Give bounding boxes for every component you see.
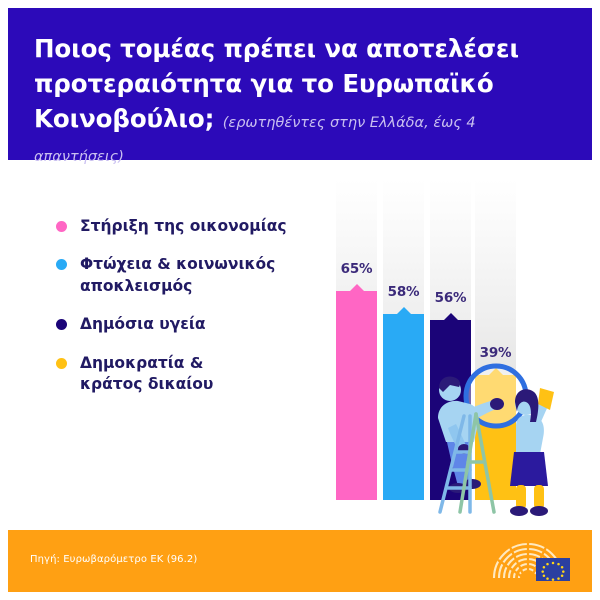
woman-leg-right xyxy=(534,485,544,509)
woman-arm-raised xyxy=(530,398,550,428)
legend-dot-blue-icon xyxy=(56,259,67,270)
source-text: Πηγή: Ευρωβαρόμετρο ΕΚ (96.2) xyxy=(30,554,197,565)
legend-dot-pink-icon xyxy=(56,221,67,232)
header-banner: Ποιος τομέας πρέπει να αποτελέσει προτερ… xyxy=(8,8,592,160)
legend-label-democracy: Δημοκρατία & κράτος δικαίου xyxy=(80,353,213,396)
bar-peak-icon xyxy=(350,284,364,291)
footer-bar: Πηγή: Ευρωβαρόμετρο ΕΚ (96.2) xyxy=(8,530,592,592)
legend-item-economy: Στήριξη της οικονομίας xyxy=(56,216,336,237)
title-line-2: προτεραιότητα για το Ευρωπαϊκό xyxy=(34,69,494,98)
bar-fill-economy xyxy=(336,291,377,500)
legend-dot-navy-icon xyxy=(56,319,67,330)
bar-peak-icon xyxy=(397,307,411,314)
bar-fill-public-health xyxy=(430,320,471,500)
bar-peak-icon xyxy=(489,368,503,375)
eu-flag-icon xyxy=(536,558,570,581)
bar-track-2: 58% xyxy=(383,179,424,500)
bar-value-economy: 65% xyxy=(336,261,377,277)
title-line-3: Κοινοβούλιο; xyxy=(34,104,214,133)
bar-value-poverty: 58% xyxy=(383,284,424,300)
title-line-1: Ποιος τομέας πρέπει να αποτελέσει xyxy=(34,34,519,63)
legend-label-public-health: Δημόσια υγεία xyxy=(80,314,206,335)
legend-label-poverty: Φτώχεια & κοινωνικός αποκλεισμός xyxy=(80,254,275,297)
legend-item-poverty: Φτώχεια & κοινωνικός αποκλεισμός xyxy=(56,254,336,297)
bar-track-3: 56% xyxy=(430,179,471,500)
woman-shoe-right xyxy=(530,506,548,516)
bar-peak-icon xyxy=(444,313,458,320)
legend-item-public-health: Δημόσια υγεία xyxy=(56,314,336,335)
legend: Στήριξη της οικονομίας Φτώχεια & κοινωνι… xyxy=(56,216,336,412)
bar-track-4: 39% xyxy=(475,179,516,500)
legend-dot-yellow-icon xyxy=(56,358,67,369)
page-title: Ποιος τομέας πρέπει να αποτελέσει προτερ… xyxy=(34,32,566,171)
legend-item-democracy: Δημοκρατία & κράτος δικαίου xyxy=(56,353,336,396)
legend-label-economy: Στήριξη της οικονομίας xyxy=(80,216,287,237)
bar-chart: 65% 58% 56% 39% xyxy=(336,176,526,500)
european-parliament-logo xyxy=(488,538,574,584)
woman-held-card-icon xyxy=(538,388,554,410)
bar-value-public-health: 56% xyxy=(430,290,471,306)
bar-track-1: 65% xyxy=(336,179,377,500)
woman-shoe-left xyxy=(510,506,528,516)
infographic-root: Ποιος τομέας πρέπει να αποτελέσει προτερ… xyxy=(0,0,600,600)
bar-value-democracy: 39% xyxy=(475,345,516,361)
bar-fill-democracy xyxy=(475,375,516,500)
bar-fill-poverty xyxy=(383,314,424,500)
